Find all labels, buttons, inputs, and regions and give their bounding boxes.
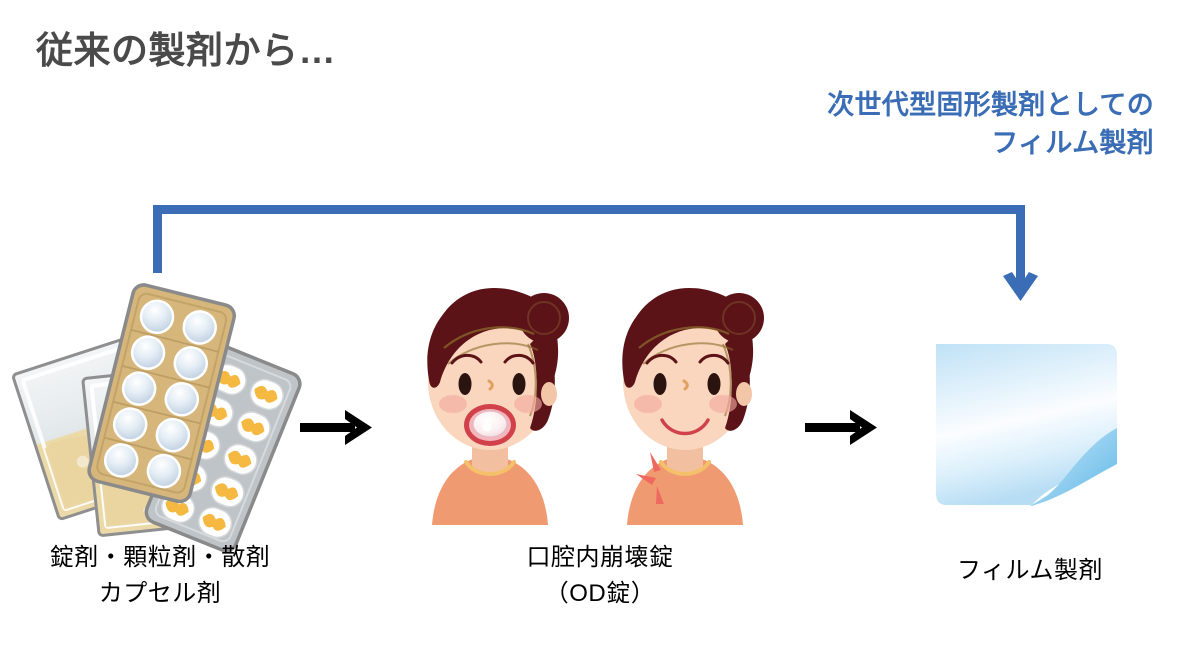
capsule-blister-pack [143, 342, 303, 554]
page-title: 従来の製剤から… [36, 28, 336, 74]
caption-film-formulation: フィルム製剤 [880, 553, 1180, 589]
slide-canvas: 従来の製剤から… 次世代型固形製剤としての フィルム製剤 [0, 0, 1180, 664]
film-sheet-illustration [936, 344, 1117, 506]
caption-film-line1: フィルム製剤 [880, 553, 1180, 589]
next-generation-heading-line1: 次世代型固形製剤としての [684, 86, 1154, 124]
next-generation-heading: 次世代型固形製剤としての フィルム製剤 [684, 86, 1154, 163]
woman-smiling-illustration [622, 288, 764, 525]
woman-with-tablet-illustration [427, 288, 569, 525]
caption-od-line2: （OD錠） [440, 576, 760, 612]
dissolution-sparkle [636, 452, 664, 504]
next-generation-heading-line2: フィルム製剤 [684, 124, 1154, 162]
bracket-arrow-connector [153, 205, 1038, 301]
caption-od-line1: 口腔内崩壊錠 [440, 540, 760, 576]
flow-arrow-2 [805, 410, 877, 445]
powder-sachet-back [13, 337, 176, 519]
caption-conventional-formulations: 錠剤・顆粒剤・散剤 カプセル剤 [0, 540, 320, 612]
flow-arrow-1 [300, 410, 372, 445]
caption-conventional-line1: 錠剤・顆粒剤・散剤 [0, 540, 320, 576]
caption-conventional-line2: カプセル剤 [0, 576, 320, 612]
conventional-formulations-illustration [13, 283, 304, 554]
powder-sachet-front [83, 366, 225, 536]
tablet-blister-pack [87, 283, 237, 504]
caption-od-tablet: 口腔内崩壊錠 （OD錠） [440, 540, 760, 612]
